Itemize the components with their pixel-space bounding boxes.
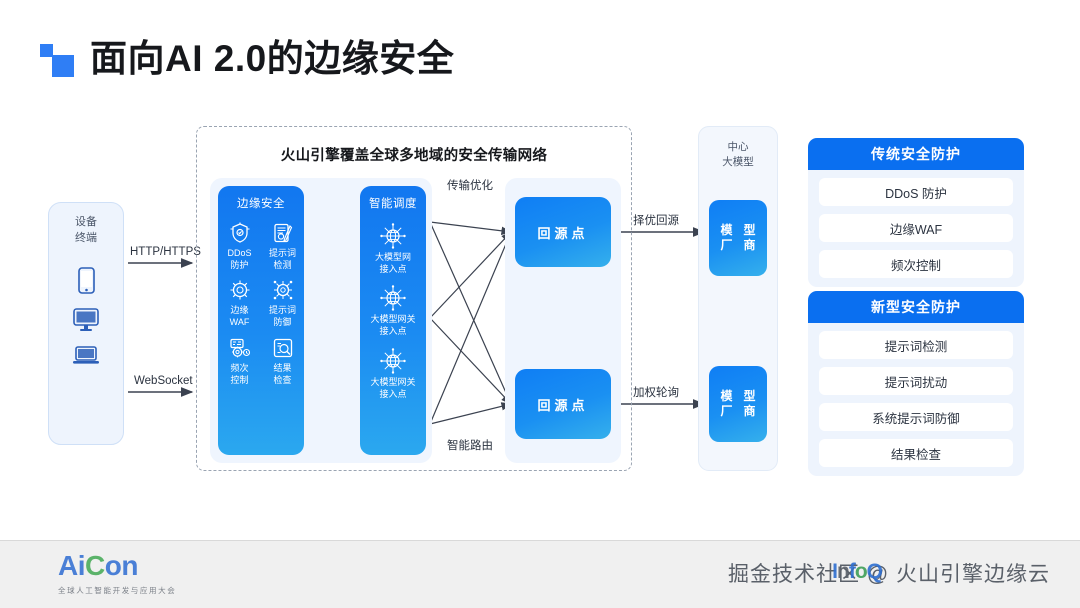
footer-attribution: 掘金技术社区 @ 火山引擎边缘云 (728, 558, 1050, 588)
phone-icon (78, 267, 95, 294)
scheduling-label-line2: 接入点 (379, 326, 406, 336)
feature-label-line1: 提示词 (269, 305, 296, 315)
traditional-protection-card: 传统安全防护 DDoS 防护 边缘WAF 频次控制 (808, 138, 1024, 287)
scheduling-label-line1: 大模型网关 (370, 314, 415, 324)
feature-label-line1: 频次 (230, 363, 248, 373)
feature-label-line1: DDoS (227, 248, 251, 258)
feature-ddos-protection[interactable]: DDoS防护 (218, 221, 261, 271)
origin-point-box-2[interactable]: 回源点 (515, 369, 611, 439)
vendor-char-2: 型 (738, 389, 761, 404)
feature-label-line2: 控制 (230, 375, 248, 385)
intelligent-scheduling-panel: 智能调度 大模型网接入点 大模型网关接入点 大模型网关接入点 (360, 186, 426, 455)
logo-ai: Ai (58, 550, 85, 581)
feature-label-line1: 提示词 (269, 248, 296, 258)
link-label-weighted-round-robin: 加权轮询 (633, 384, 679, 400)
scheduling-label-line2: 接入点 (379, 264, 406, 274)
aicon-logo-subtitle: 全球人工智能开发与应用大会 (58, 585, 176, 596)
clipboard-text-icon (272, 221, 294, 245)
globe-node-icon (380, 348, 406, 374)
link-label-preferred-origin: 择优回源 (633, 212, 679, 228)
device-terminal-label: 设备 终端 (75, 215, 97, 247)
model-vendor-box-1[interactable]: 模 型 厂 商 (709, 200, 767, 276)
globe-node-icon (380, 285, 406, 311)
feature-rate-limit[interactable]: 频次控制 (218, 336, 261, 386)
scheduling-item-3[interactable]: 大模型网关接入点 (360, 348, 426, 400)
edge-security-heading: 边缘安全 (218, 195, 304, 211)
scheduling-label-line2: 接入点 (379, 389, 406, 399)
link-label-http: HTTP/HTTPS (130, 246, 201, 258)
network-title: 火山引擎覆盖全球多地域的安全传输网络 (196, 144, 632, 165)
aicon-logo-text: AiCon (58, 552, 176, 580)
laptop-icon (72, 346, 100, 366)
traditional-item-rate-control[interactable]: 频次控制 (819, 250, 1013, 278)
feature-prompt-defense[interactable]: 提示词防御 (261, 278, 304, 328)
model-vendor-box-2[interactable]: 模 型 厂 商 (709, 366, 767, 442)
vendor-char-1: 模 (715, 223, 738, 238)
scheduling-item-2[interactable]: 大模型网关接入点 (360, 285, 426, 337)
modern-item-prompt-perturbation[interactable]: 提示词扰动 (819, 367, 1013, 395)
vendor-char-4: 商 (738, 404, 761, 419)
diagram-canvas: 设备 终端 HTTP/HTTPS WebSocket 火山引擎覆盖全球多地域的安… (0, 0, 1080, 540)
central-model-title: 中心 大模型 (698, 140, 778, 170)
scheduling-item-list: 大模型网接入点 大模型网关接入点 大模型网关接入点 (360, 223, 426, 410)
traditional-item-edge-waf[interactable]: 边缘WAF (819, 214, 1013, 242)
footer-divider (0, 540, 1080, 541)
feature-label-line2: 防御 (273, 317, 291, 327)
modern-protection-header: 新型安全防护 (808, 291, 1024, 323)
gauge-gear-icon (229, 336, 251, 360)
scheduling-heading: 智能调度 (360, 195, 426, 211)
feature-label-line1: 边缘 (230, 305, 248, 315)
link-label-transport-optimization: 传输优化 (447, 177, 493, 193)
vendor-char-1: 模 (715, 389, 738, 404)
central-title-line1: 中心 (698, 140, 778, 155)
network-shield-icon (272, 278, 294, 302)
scheduling-label-line1: 大模型网关 (370, 377, 415, 387)
feature-label-line2: WAF (230, 317, 250, 327)
edge-security-panel: 边缘安全 DDoS防护 提示词检测 边缘WAF (218, 186, 304, 455)
feature-label-line2: 防护 (230, 260, 248, 270)
vendor-char-3: 厂 (715, 238, 738, 253)
feature-label-line2: 检测 (273, 260, 291, 270)
infoq-watermark: InfoQ (832, 560, 882, 584)
scheduling-item-1[interactable]: 大模型网接入点 (360, 223, 426, 275)
modern-item-result-check[interactable]: 结果检查 (819, 439, 1013, 467)
feature-result-check[interactable]: 结果检查 (261, 336, 304, 386)
globe-node-icon (380, 223, 406, 249)
device-label-line1: 设备 (75, 215, 97, 231)
feature-label-line1: 结果 (273, 363, 291, 373)
modern-item-system-prompt-defense[interactable]: 系统提示词防御 (819, 403, 1013, 431)
vendor-char-3: 厂 (715, 404, 738, 419)
traditional-item-ddos[interactable]: DDoS 防护 (819, 178, 1013, 206)
gear-shield-icon (229, 278, 251, 302)
logo-on: on (105, 550, 138, 581)
origin-point-box-1[interactable]: 回源点 (515, 197, 611, 267)
central-title-line2: 大模型 (698, 155, 778, 170)
vendor-char-2: 型 (738, 223, 761, 238)
logo-c: C (85, 550, 105, 581)
feature-edge-waf[interactable]: 边缘WAF (218, 278, 261, 328)
modern-protection-card: 新型安全防护 提示词检测 提示词扰动 系统提示词防御 结果检查 (808, 291, 1024, 476)
aicon-logo: AiCon 全球人工智能开发与应用大会 (58, 552, 176, 596)
link-label-smart-routing: 智能路由 (447, 437, 493, 453)
modern-item-prompt-detection[interactable]: 提示词检测 (819, 331, 1013, 359)
footer-bar: AiCon 全球人工智能开发与应用大会 掘金技术社区 @ 火山引擎边缘云 Inf… (0, 540, 1080, 608)
edge-security-feature-grid: DDoS防护 提示词检测 边缘WAF 提示词防御 (218, 221, 304, 393)
vendor-char-4: 商 (738, 238, 761, 253)
feature-label-line2: 检查 (273, 375, 291, 385)
device-terminal-panel: 设备 终端 (48, 202, 124, 445)
feature-prompt-detection[interactable]: 提示词检测 (261, 221, 304, 271)
traditional-protection-header: 传统安全防护 (808, 138, 1024, 170)
link-label-websocket: WebSocket (134, 375, 193, 387)
shield-check-icon (229, 221, 251, 245)
monitor-icon (73, 308, 99, 332)
device-label-line2: 终端 (75, 231, 97, 247)
scheduling-label-line1: 大模型网 (375, 252, 411, 262)
document-search-icon (272, 336, 294, 360)
